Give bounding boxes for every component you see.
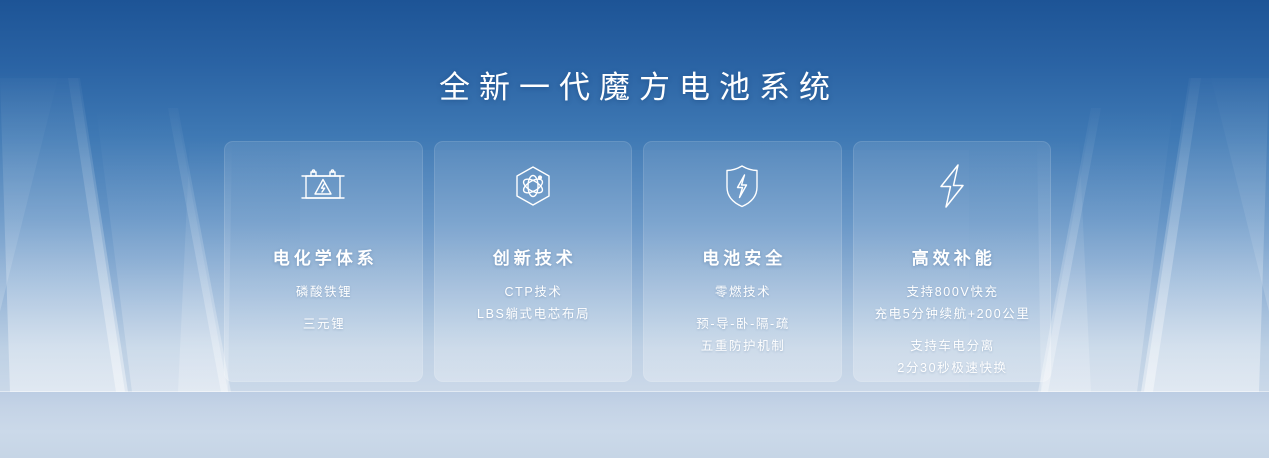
reflective-floor bbox=[0, 392, 1269, 458]
card-line: LBS躺式电芯布局 bbox=[434, 303, 633, 325]
card-lines: 支持800V快充 充电5分钟续航+200公里 支持车电分离 2分30秒极速快换 bbox=[853, 281, 1052, 379]
card-title: 高效补能 bbox=[908, 248, 996, 270]
card-line: 磷酸铁锂 bbox=[224, 281, 423, 303]
card-title: 创新技术 bbox=[489, 248, 577, 270]
page-title: 全新一代魔方电池系统 bbox=[0, 70, 1269, 106]
card-line: 零燃技术 bbox=[643, 281, 842, 303]
card-line: 2分30秒极速快换 bbox=[853, 357, 1052, 379]
feature-card-innovation[interactable]: 创新技术 CTP技术 LBS躺式电芯布局 bbox=[434, 141, 633, 382]
card-line: 支持车电分离 bbox=[853, 335, 1052, 357]
card-lines: CTP技术 LBS躺式电芯布局 bbox=[434, 281, 633, 325]
feature-card-list: 电化学体系 磷酸铁锂 三元锂 创新技术 CTP技术 LBS躺式电芯布局 bbox=[224, 141, 1051, 382]
card-line: 五重防护机制 bbox=[643, 335, 842, 357]
battery-high-voltage-icon bbox=[299, 162, 347, 210]
card-title: 电化学体系 bbox=[269, 248, 378, 270]
card-line: 充电5分钟续航+200公里 bbox=[853, 303, 1052, 325]
card-lines: 磷酸铁锂 三元锂 bbox=[224, 281, 423, 335]
feature-card-electrochemistry[interactable]: 电化学体系 磷酸铁锂 三元锂 bbox=[224, 141, 423, 382]
card-title: 电池安全 bbox=[698, 248, 786, 270]
feature-card-fast-charging[interactable]: 高效补能 支持800V快充 充电5分钟续航+200公里 支持车电分离 2分30秒… bbox=[853, 141, 1052, 382]
hexagon-atom-icon bbox=[510, 162, 556, 210]
shield-bolt-icon bbox=[721, 162, 763, 210]
card-line: 支持800V快充 bbox=[853, 281, 1052, 303]
lightning-bolt-icon bbox=[935, 162, 969, 210]
card-line: 预-导-卧-隔-疏 bbox=[643, 313, 842, 335]
feature-card-safety[interactable]: 电池安全 零燃技术 预-导-卧-隔-疏 五重防护机制 bbox=[643, 141, 842, 382]
card-line: 三元锂 bbox=[224, 313, 423, 335]
card-lines: 零燃技术 预-导-卧-隔-疏 五重防护机制 bbox=[643, 281, 842, 357]
promo-banner: 全新一代魔方电池系统 电化学体系 磷酸铁锂 三元锂 bbox=[0, 0, 1269, 458]
card-line: CTP技术 bbox=[434, 281, 633, 303]
